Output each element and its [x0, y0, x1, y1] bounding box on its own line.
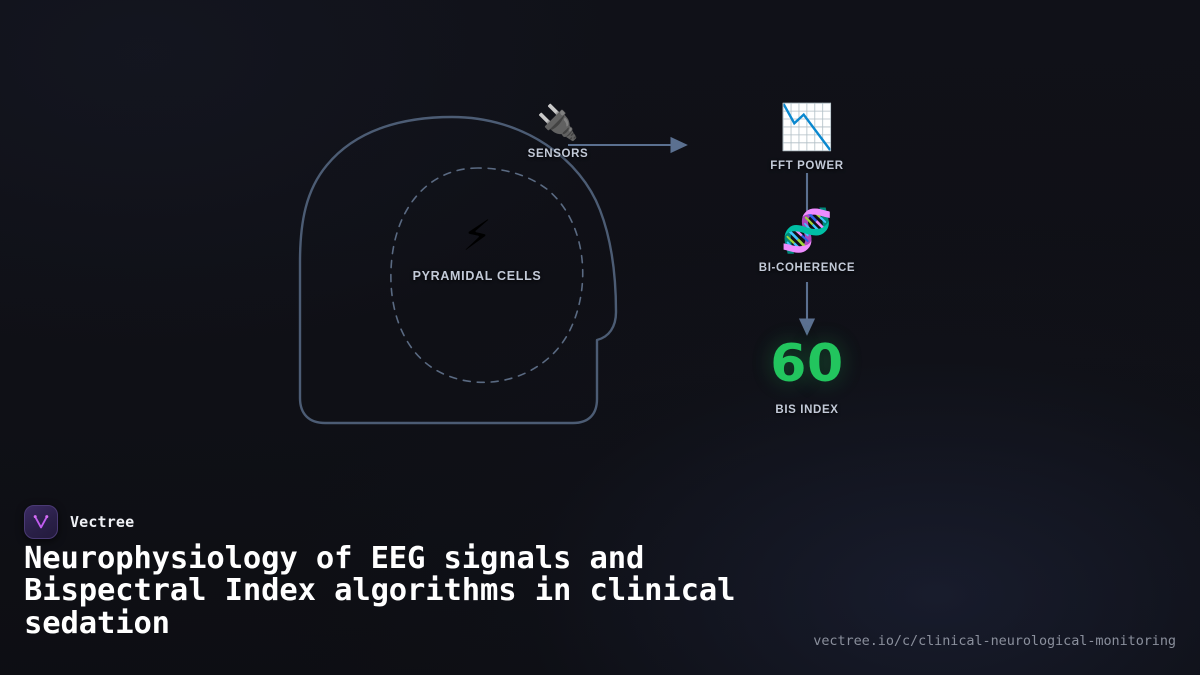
- diagram-node-fft-power[interactable]: 📉 FFT POWER: [747, 106, 867, 172]
- diagram-node-pyramidal-cells[interactable]: ⚡ PYRAMIDAL CELLS: [397, 215, 557, 283]
- bis-index-value: 60: [770, 338, 843, 390]
- plug-icon: 🔌: [537, 106, 579, 140]
- diagram-node-bis-index[interactable]: 60 BIS INDEX: [737, 338, 877, 416]
- node-label-fft-power: FFT POWER: [770, 160, 843, 172]
- dna-helix-icon: 🧬: [781, 210, 833, 252]
- diagram-canvas: [0, 0, 1200, 500]
- chart-decreasing-icon: 📉: [780, 106, 835, 150]
- lightning-bolt-icon: ⚡: [462, 215, 492, 257]
- page-title: Neurophysiology of EEG signals and Bispe…: [24, 543, 814, 640]
- footer-url[interactable]: vectree.io/c/clinical-neurological-monit…: [813, 633, 1176, 649]
- slide-canvas: 🔌 SENSORS ⚡ PYRAMIDAL CELLS 📉 FFT POWER …: [0, 0, 1200, 675]
- diagram-node-bi-coherence[interactable]: 🧬 BI-COHERENCE: [747, 210, 867, 274]
- brand-name: Vectree: [70, 513, 134, 531]
- node-label-bis-index: BIS INDEX: [775, 404, 838, 416]
- node-label-bi-coherence: BI-COHERENCE: [759, 262, 855, 274]
- node-label-sensors: SENSORS: [528, 148, 589, 160]
- brand-row[interactable]: Vectree: [24, 505, 134, 539]
- footer: Vectree Neurophysiology of EEG signals a…: [0, 483, 1200, 675]
- diagram-node-sensors[interactable]: 🔌 SENSORS: [497, 106, 619, 160]
- vectree-logo-icon: [24, 505, 58, 539]
- node-label-pyramidal-cells: PYRAMIDAL CELLS: [413, 269, 542, 283]
